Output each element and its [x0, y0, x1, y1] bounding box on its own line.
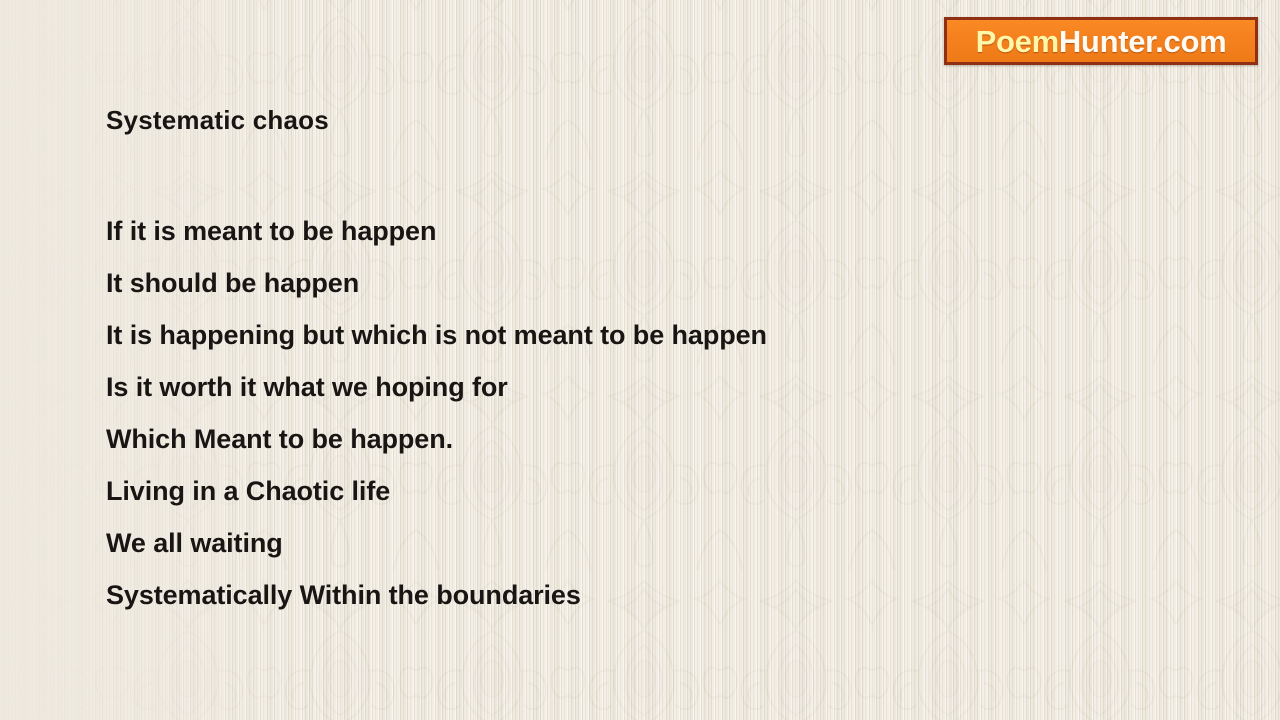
poem-line: Living in a Chaotic life — [106, 465, 1206, 517]
logo-poem-text: Poem — [976, 24, 1059, 59]
poem-title: Systematic chaos — [106, 100, 1206, 140]
poem-body: If it is meant to be happenIt should be … — [106, 205, 1206, 621]
poem-line: Which Meant to be happen. — [106, 413, 1206, 465]
logo-hunter-text: Hunter.com — [1059, 24, 1227, 59]
poemhunter-logo[interactable]: PoemHunter.com — [944, 17, 1258, 65]
poem-line: Systematically Within the boundaries — [106, 569, 1206, 621]
poem-slide: PoemHunter.com Systematic chaos If it is… — [0, 0, 1280, 720]
poem-content: Systematic chaos If it is meant to be ha… — [106, 100, 1206, 621]
poem-line: If it is meant to be happen — [106, 205, 1206, 257]
poem-line: It is happening but which is not meant t… — [106, 309, 1206, 361]
poem-line: Is it worth it what we hoping for — [106, 361, 1206, 413]
poem-line: We all waiting — [106, 517, 1206, 569]
logo-wordmark: PoemHunter.com — [976, 26, 1227, 57]
poem-line: It should be happen — [106, 257, 1206, 309]
